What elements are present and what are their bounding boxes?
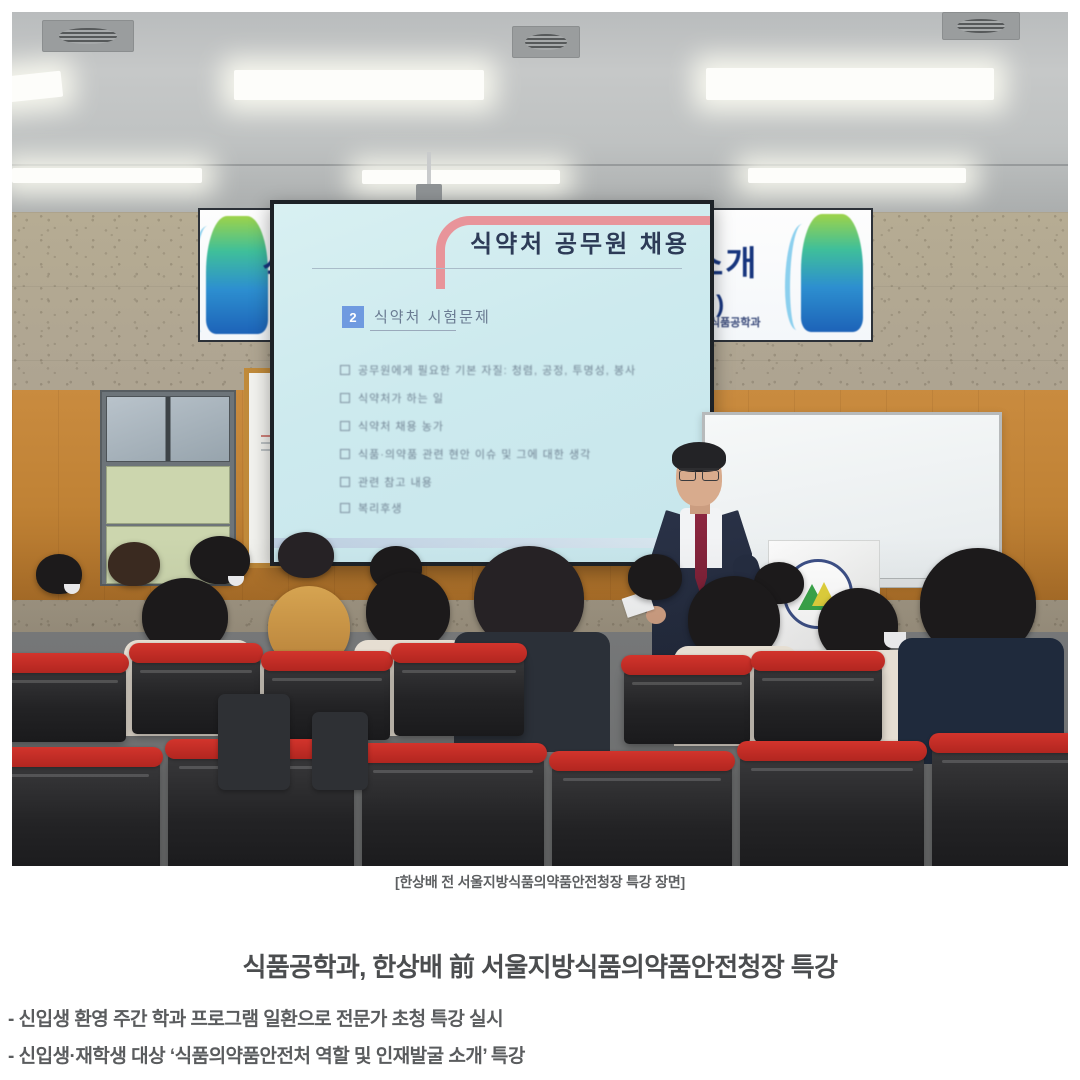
audience-head bbox=[628, 554, 682, 600]
ceiling-light bbox=[234, 70, 484, 100]
checkbox-icon bbox=[340, 449, 350, 459]
ceiling-light bbox=[706, 68, 994, 100]
slide-section-title: 식약처 시험문제 bbox=[374, 306, 491, 327]
ceiling-light bbox=[12, 168, 202, 183]
slide-bullet: 공무원에게 필요한 기본 자질: 청렴, 공정, 투명성, 봉사 bbox=[340, 362, 636, 378]
face-mask bbox=[64, 584, 80, 594]
slide-bullet-text: 식약처 채용 농가 bbox=[358, 418, 444, 434]
auditorium-seat bbox=[624, 666, 750, 744]
backpack bbox=[312, 712, 368, 790]
slide-divider bbox=[312, 268, 682, 269]
checkbox-icon bbox=[340, 477, 350, 487]
ceiling-vent bbox=[42, 20, 134, 52]
auditorium-seat bbox=[394, 654, 524, 736]
slide-bullet-text: 식품·의약품 관련 현안 이슈 및 그에 대한 생각 bbox=[358, 446, 591, 462]
auditorium-seat bbox=[932, 744, 1068, 866]
audience-head bbox=[278, 532, 334, 578]
audience-head bbox=[108, 542, 160, 586]
auditorium-seat bbox=[552, 762, 732, 866]
slide-section-number: 2 bbox=[342, 306, 364, 328]
summary-bullet: - 신입생 환영 주간 학과 프로그램 일환으로 전문가 초청 특강 실시 bbox=[8, 1004, 1060, 1031]
photo-scene: 식 소개 장) 식품공학과 식약처 공무원 채용 bbox=[12, 12, 1068, 866]
face-mask bbox=[228, 576, 244, 586]
summary-bullet: - 신입생·재학생 대상 ‘식품의약품안전처 역할 및 인재발굴 소개’ 특강 bbox=[8, 1041, 1060, 1068]
page-title: 식품공학과, 한상배 前 서울지방식품의약품안전청장 특강 bbox=[0, 947, 1080, 984]
checkbox-icon bbox=[340, 503, 350, 513]
cabinet-door bbox=[106, 466, 230, 524]
checkbox-icon bbox=[340, 365, 350, 375]
audience-area bbox=[12, 536, 1068, 866]
slide-bullet-text: 식약처가 하는 일 bbox=[358, 390, 444, 406]
bottle-graphic-icon bbox=[206, 216, 268, 334]
cabinet-glass-doors bbox=[106, 396, 230, 462]
backpack bbox=[218, 694, 290, 790]
slide-bullet-text: 복리후생 bbox=[358, 500, 402, 516]
slide-bullet: 식약처 채용 농가 bbox=[340, 418, 444, 434]
audience-head bbox=[366, 572, 450, 650]
slide-bullet-text: 공무원에게 필요한 기본 자질: 청렴, 공정, 투명성, 봉사 bbox=[358, 362, 636, 378]
slide-bullet: 식품·의약품 관련 현안 이슈 및 그에 대한 생각 bbox=[340, 446, 591, 462]
slide-section-underline bbox=[370, 330, 456, 331]
auditorium-seat bbox=[362, 754, 544, 866]
ceiling-light bbox=[748, 168, 966, 183]
auditorium-seat bbox=[12, 664, 126, 742]
projector-rod bbox=[427, 152, 431, 186]
slide-bullet: 복리후생 bbox=[340, 500, 402, 516]
ceiling-light bbox=[362, 170, 560, 184]
glasses-icon bbox=[679, 468, 719, 479]
auditorium-seat bbox=[754, 662, 882, 742]
checkbox-icon bbox=[340, 393, 350, 403]
summary-bullet-list: - 신입생 환영 주간 학과 프로그램 일환으로 전문가 초청 특강 실시 - … bbox=[8, 1004, 1060, 1078]
banner-right-footnote: 식품공학과 bbox=[710, 314, 761, 330]
ceiling-vent bbox=[512, 26, 580, 58]
auditorium-seat bbox=[12, 758, 160, 866]
slide-bullet: 관련 참고 내용 bbox=[340, 474, 433, 490]
slide-title: 식약처 공무원 채용 bbox=[470, 224, 690, 259]
slide-bullet: 식약처가 하는 일 bbox=[340, 390, 444, 406]
slide-bullet-text: 관련 참고 내용 bbox=[358, 474, 433, 490]
lecture-photo: 식 소개 장) 식품공학과 식약처 공무원 채용 bbox=[12, 12, 1068, 866]
auditorium-seat bbox=[740, 752, 924, 866]
photo-caption: [한상배 전 서울지방식품의약품안전청장 특강 장면] bbox=[0, 872, 1080, 892]
ceiling-vent bbox=[942, 12, 1020, 40]
checkbox-icon bbox=[340, 421, 350, 431]
bottle-graphic-icon bbox=[801, 214, 863, 332]
